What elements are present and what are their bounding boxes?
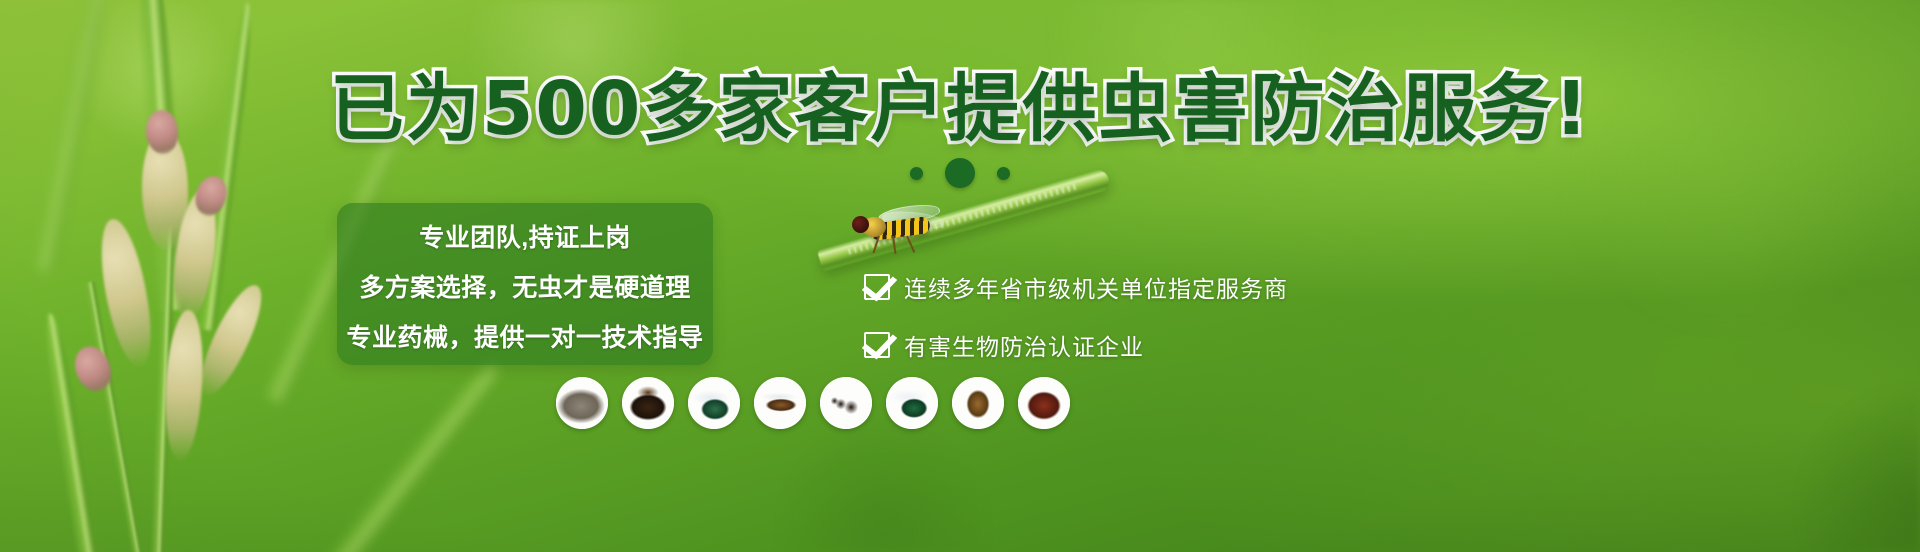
checklist-label: 连续多年省市级机关单位指定服务商 <box>904 270 1288 304</box>
feature-line-3: 专业药械，提供一对一技术指导 <box>337 318 713 354</box>
mosquito-icon[interactable] <box>754 377 806 429</box>
promo-banner: 已为500多家客户提供虫害防治服务! 专业团队,持证上岗 多方案选择，无虫才是硬… <box>0 0 1920 552</box>
feature-line-1: 专业团队,持证上岗 <box>337 218 713 254</box>
checklist-label: 有害生物防治认证企业 <box>904 328 1144 362</box>
decor-dots <box>0 158 1920 188</box>
decor-dot-small-left <box>910 167 923 180</box>
banner-headline: 已为500多家客户提供虫害防治服务! <box>0 72 1920 146</box>
decor-dot-small-right <box>997 167 1010 180</box>
ant-icon[interactable] <box>820 377 872 429</box>
pest-icon-row <box>556 377 1070 429</box>
greenfly-icon[interactable] <box>886 377 938 429</box>
flea-icon[interactable] <box>952 377 1004 429</box>
rat-icon[interactable] <box>556 377 608 429</box>
housefly-icon[interactable] <box>688 377 740 429</box>
cockroach-icon[interactable] <box>622 377 674 429</box>
checkbox-checked-icon <box>864 274 890 300</box>
checkbox-checked-icon <box>864 332 890 358</box>
credentials-checklist: 连续多年省市级机关单位指定服务商 有害生物防治认证企业 <box>864 270 1288 386</box>
checklist-item: 连续多年省市级机关单位指定服务商 <box>864 270 1288 304</box>
feature-panel: 专业团队,持证上岗 多方案选择，无虫才是硬道理 专业药械，提供一对一技术指导 <box>337 203 713 365</box>
feature-line-2: 多方案选择，无虫才是硬道理 <box>337 268 713 304</box>
bedbug-icon[interactable] <box>1018 377 1070 429</box>
hoverfly-imagery <box>848 198 948 254</box>
checklist-item: 有害生物防治认证企业 <box>864 328 1288 362</box>
decor-dot-large <box>945 158 975 188</box>
